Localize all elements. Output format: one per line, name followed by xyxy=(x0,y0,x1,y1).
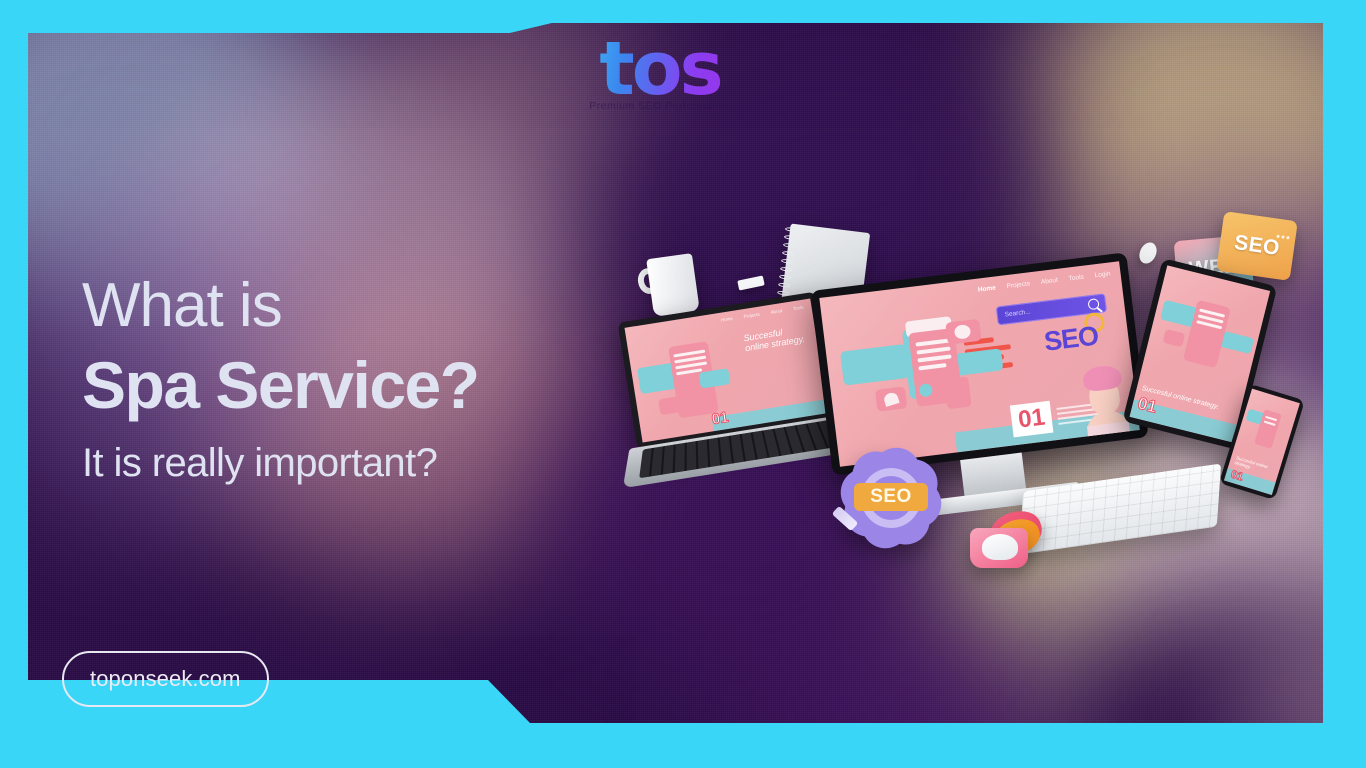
search-icon[interactable] xyxy=(1087,298,1099,310)
like-shape xyxy=(1163,329,1186,347)
cream-swirl xyxy=(982,534,1018,560)
nav-item-home[interactable]: Home xyxy=(977,284,996,293)
laptop-nav: HomeProjects AboutTools xyxy=(721,305,804,323)
seo-badge-label: SEO xyxy=(854,483,928,511)
headline-block: What is Spa Service? It is really import… xyxy=(82,268,702,494)
like-shape xyxy=(658,396,682,415)
nav-item-about[interactable]: About xyxy=(1041,277,1059,286)
bubble-shape xyxy=(698,368,730,388)
headline-subline: It is really important? xyxy=(82,432,702,494)
laptop-number-badge: 01 xyxy=(711,409,730,428)
seo-badge-plate: SEO xyxy=(854,483,928,511)
search-placeholder: Search... xyxy=(1004,308,1031,318)
logo-wordmark: tos xyxy=(560,32,760,106)
bubble-shape xyxy=(840,344,910,386)
seo-badge-icon: SEO xyxy=(848,455,934,541)
nav-item-login[interactable]: Login xyxy=(1094,270,1111,279)
mock-block xyxy=(944,377,971,410)
jar-body xyxy=(970,528,1028,568)
banner-canvas: tos Premium SEO Performance What is Spa … xyxy=(0,0,1366,768)
logo-tagline: Premium SEO Performance xyxy=(560,100,760,112)
monitor-screen: Home Projects About Tools Login Search..… xyxy=(819,261,1139,467)
cosmetic-cream-jar xyxy=(968,510,1042,568)
usb-stick-icon xyxy=(737,275,765,290)
brand-logo: tos Premium SEO Performance xyxy=(560,32,760,112)
mug-body xyxy=(646,253,700,317)
computer-mouse-icon xyxy=(1136,240,1160,267)
website-url-badge[interactable]: toponseek.com xyxy=(62,651,269,707)
nav-item-projects[interactable]: Projects xyxy=(1006,280,1030,290)
headline-line-2: Spa Service? xyxy=(82,344,702,426)
device-illustration: WEB PAGE SEO HomeProjects AboutTools xyxy=(620,210,1340,610)
monitor-bezel: Home Projects About Tools Login Search..… xyxy=(810,252,1148,475)
monitor-nav[interactable]: Home Projects About Tools Login xyxy=(977,270,1110,293)
headline-line-1: What is xyxy=(82,268,702,344)
coffee-mug-icon xyxy=(642,256,696,314)
monitor-number-badge: 01 xyxy=(1010,401,1054,438)
nav-item-tools[interactable]: Tools xyxy=(1068,274,1084,283)
seo-heading: SEO xyxy=(1042,320,1099,357)
laptop-headline: Succesful online strategy. xyxy=(743,324,807,353)
seo-heading-text: SEO xyxy=(1042,320,1099,356)
seo-card: SEO xyxy=(1216,211,1298,281)
